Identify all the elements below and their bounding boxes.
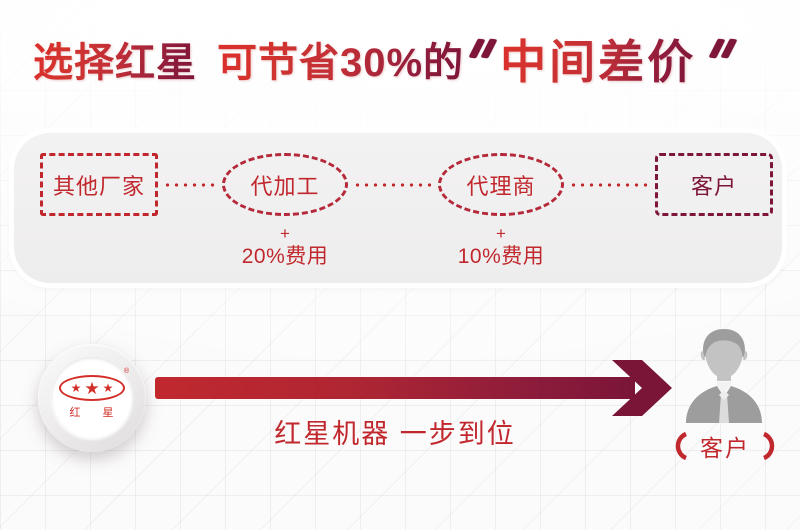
customer-label-text: 客户: [700, 429, 750, 463]
brand-logo-badge: ★ ★ ★ ® 红 星: [38, 344, 146, 452]
right-arrow-shaft: [155, 377, 635, 399]
brand-char-right: 星: [103, 404, 115, 420]
headline-part-1: 选择红星: [33, 30, 197, 88]
flow-node-label: 代理商: [466, 169, 535, 201]
fee-agent: + 10%费用: [411, 224, 591, 270]
flow-node-other-factory: 其他厂家: [40, 153, 158, 216]
registered-mark-icon: ®: [124, 368, 129, 375]
brand-char-left: 红: [70, 404, 82, 420]
fee-plus-sign: +: [195, 224, 375, 244]
headline-quoted-text: 中间差价: [500, 26, 696, 92]
flow-node-agent: 代理商: [438, 153, 564, 216]
quote-open-icon: [468, 37, 498, 81]
flow-node-customer: 客户: [655, 153, 773, 216]
quote-close-icon: [708, 37, 738, 81]
flow-node-label: 客户: [691, 169, 737, 201]
fee-plus-sign: +: [411, 224, 591, 244]
page-title: 选择红星 可节省30%的 中间差价: [0, 26, 800, 92]
brand-logo-subtitle: 红 星: [51, 404, 133, 420]
brand-logo: ★ ★ ★ ® 红 星: [51, 357, 133, 439]
bracket-right-icon: [762, 431, 779, 461]
flow-node-label: 代加工: [250, 169, 319, 201]
star-icon: ★: [84, 380, 99, 397]
flow-node-label: 其他厂家: [53, 169, 145, 201]
dotted-line-icon: [569, 183, 651, 187]
fee-amount: 10%费用: [411, 244, 591, 270]
star-icon: ★: [71, 382, 82, 394]
headline-part-2: 可节省30%的: [217, 30, 464, 88]
red-oval-icon: ★ ★ ★: [59, 375, 125, 401]
bracket-left-icon: [671, 431, 688, 461]
arrow-caption: 红星机器 一步到位: [155, 412, 635, 451]
fee-amount: 20%费用: [195, 244, 375, 270]
dotted-line-icon: [163, 183, 218, 187]
dotted-line-icon: [353, 183, 434, 187]
fee-oem: + 20%费用: [195, 224, 375, 270]
star-icon: ★: [103, 382, 114, 394]
businessman-silhouette-icon: [672, 325, 776, 423]
customer-label: 客户: [645, 428, 800, 464]
flow-node-oem: 代加工: [222, 153, 348, 216]
